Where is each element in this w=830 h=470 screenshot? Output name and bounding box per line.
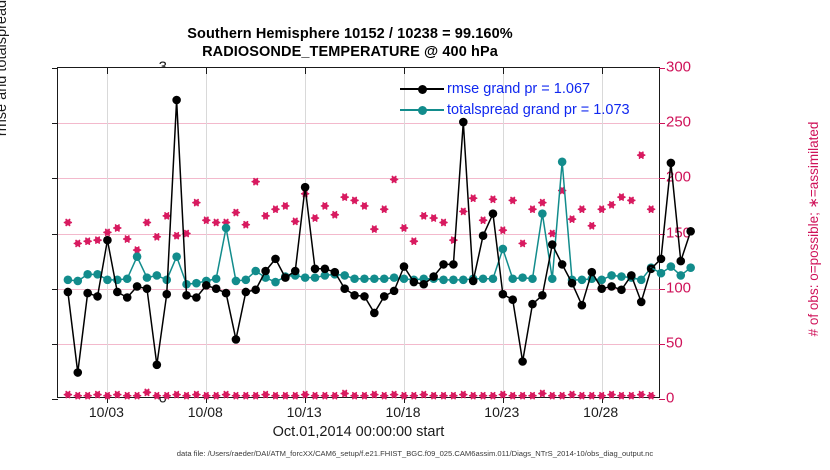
obs-possible-marker bbox=[588, 223, 595, 229]
obs-assimilated-marker bbox=[84, 393, 91, 399]
obs-assimilated-marker bbox=[322, 393, 329, 399]
obs-possible-marker bbox=[242, 222, 249, 228]
obs-assimilated-marker bbox=[499, 392, 506, 398]
series-marker bbox=[330, 268, 339, 277]
series-marker bbox=[429, 272, 438, 281]
obs-assimilated-marker bbox=[272, 393, 279, 399]
obs-possible-marker bbox=[499, 227, 506, 233]
series-marker bbox=[133, 282, 142, 291]
series-marker bbox=[657, 255, 666, 264]
series-marker bbox=[518, 357, 527, 366]
series-marker bbox=[311, 273, 320, 282]
obs-possible-marker bbox=[490, 196, 497, 202]
series-marker bbox=[676, 257, 685, 266]
obs-possible-marker bbox=[124, 236, 131, 242]
obs-possible-marker bbox=[480, 217, 487, 223]
obs-assimilated-marker bbox=[302, 392, 309, 398]
series-marker bbox=[597, 284, 606, 293]
obs-possible-marker bbox=[440, 220, 447, 226]
series-marker bbox=[499, 290, 508, 299]
series-marker bbox=[64, 276, 73, 285]
y-tick-label-right: 50 bbox=[666, 334, 683, 351]
obs-assimilated-marker bbox=[173, 392, 180, 398]
series-marker bbox=[469, 277, 478, 286]
obs-assimilated-marker bbox=[74, 393, 81, 399]
series-marker bbox=[113, 288, 122, 297]
obs-possible-marker bbox=[153, 234, 160, 240]
obs-possible-marker bbox=[519, 240, 526, 246]
series-marker bbox=[489, 274, 498, 283]
obs-possible-marker bbox=[203, 217, 210, 223]
series-marker bbox=[301, 183, 310, 192]
obs-possible-marker bbox=[173, 233, 180, 239]
legend-label-totalspread: totalspread grand pr = 1.073 bbox=[447, 102, 630, 118]
obs-possible-marker bbox=[74, 240, 81, 246]
obs-assimilated-marker bbox=[64, 392, 71, 398]
series-marker bbox=[172, 252, 181, 261]
series-marker bbox=[489, 209, 498, 218]
legend-swatch-rmse bbox=[400, 88, 444, 90]
series-marker bbox=[380, 292, 389, 301]
x-tick-label: 10/18 bbox=[385, 404, 420, 420]
legend-marker-dot bbox=[418, 106, 427, 115]
obs-assimilated-marker bbox=[588, 393, 595, 399]
series-marker bbox=[449, 276, 458, 285]
obs-assimilated-marker bbox=[579, 393, 586, 399]
obs-assimilated-marker bbox=[648, 393, 655, 399]
series-marker bbox=[588, 268, 597, 277]
series-marker bbox=[548, 274, 557, 283]
obs-assimilated-marker bbox=[490, 393, 497, 399]
tick-mark-left bbox=[52, 399, 58, 400]
obs-possible-marker bbox=[470, 195, 477, 201]
obs-assimilated-marker bbox=[480, 393, 487, 399]
series-marker bbox=[686, 263, 695, 272]
series-marker bbox=[321, 265, 330, 274]
obs-assimilated-marker bbox=[539, 391, 546, 397]
series-marker bbox=[558, 260, 567, 269]
series-marker bbox=[251, 267, 260, 276]
x-axis-label: Oct.01,2014 00:00:00 start bbox=[57, 424, 660, 440]
series-marker bbox=[657, 269, 666, 278]
legend-item-totalspread: totalspread grand pr = 1.073 bbox=[400, 99, 630, 120]
obs-assimilated-marker bbox=[470, 393, 477, 399]
obs-assimilated-marker bbox=[361, 393, 368, 399]
obs-assimilated-marker bbox=[233, 393, 240, 399]
series-marker bbox=[271, 255, 280, 264]
obs-possible-marker bbox=[410, 238, 417, 244]
y-tick-label-right: 250 bbox=[666, 114, 691, 131]
obs-possible-marker bbox=[569, 216, 576, 222]
obs-assimilated-marker bbox=[213, 393, 220, 399]
series-marker bbox=[528, 300, 537, 309]
obs-assimilated-marker bbox=[371, 392, 378, 398]
series-marker bbox=[479, 274, 488, 283]
obs-assimilated-marker bbox=[450, 393, 457, 399]
obs-possible-marker bbox=[262, 213, 269, 219]
obs-assimilated-marker bbox=[430, 393, 437, 399]
series-marker bbox=[558, 157, 567, 166]
obs-possible-marker bbox=[282, 203, 289, 209]
obs-possible-marker bbox=[312, 215, 319, 221]
obs-assimilated-marker bbox=[282, 393, 289, 399]
series-marker bbox=[232, 277, 241, 286]
obs-assimilated-marker bbox=[114, 392, 121, 398]
obs-possible-marker bbox=[549, 231, 556, 237]
obs-possible-marker bbox=[529, 206, 536, 212]
series-marker bbox=[419, 280, 428, 289]
obs-assimilated-marker bbox=[391, 392, 398, 398]
obs-assimilated-marker bbox=[104, 393, 111, 399]
series-marker bbox=[617, 272, 626, 281]
series-marker bbox=[400, 262, 409, 271]
obs-possible-marker bbox=[94, 237, 101, 243]
series-marker bbox=[607, 282, 616, 291]
chart-title-line2: RADIOSONDE_TEMPERATURE @ 400 hPa bbox=[0, 44, 700, 60]
series-marker bbox=[103, 276, 112, 285]
obs-possible-marker bbox=[322, 203, 329, 209]
obs-assimilated-marker bbox=[569, 392, 576, 398]
series-marker bbox=[242, 288, 251, 297]
obs-possible-marker bbox=[371, 226, 378, 232]
series-marker bbox=[508, 295, 517, 304]
series-marker bbox=[192, 279, 201, 288]
series-marker bbox=[607, 271, 616, 280]
series-marker bbox=[380, 274, 389, 283]
y-axis-label-right: # of obs: o=possible; ∗=assimilated bbox=[806, 59, 822, 399]
series-marker bbox=[410, 278, 419, 287]
series-marker bbox=[143, 284, 152, 293]
series-marker bbox=[578, 301, 587, 310]
obs-assimilated-marker bbox=[559, 393, 566, 399]
series-marker bbox=[370, 274, 379, 283]
series-marker bbox=[212, 274, 221, 283]
series-marker bbox=[676, 271, 685, 280]
obs-assimilated-marker bbox=[134, 393, 141, 399]
obs-possible-marker bbox=[114, 225, 121, 231]
obs-assimilated-marker bbox=[193, 392, 200, 398]
series-marker bbox=[390, 273, 399, 282]
series-marker bbox=[133, 252, 142, 261]
obs-possible-marker bbox=[144, 220, 151, 226]
series-marker bbox=[212, 284, 221, 293]
series-marker bbox=[192, 293, 201, 302]
obs-possible-marker bbox=[420, 213, 427, 219]
series-marker bbox=[123, 293, 132, 302]
obs-possible-marker bbox=[579, 206, 586, 212]
series-marker bbox=[617, 285, 626, 294]
series-marker bbox=[508, 274, 517, 283]
series-marker bbox=[449, 260, 458, 269]
series-marker bbox=[281, 273, 290, 282]
series-marker bbox=[271, 278, 280, 287]
series-marker bbox=[222, 289, 231, 298]
obs-assimilated-marker bbox=[440, 393, 447, 399]
obs-assimilated-marker bbox=[183, 393, 190, 399]
obs-possible-marker bbox=[84, 238, 91, 244]
obs-assimilated-marker bbox=[608, 392, 615, 398]
obs-assimilated-marker bbox=[94, 392, 101, 398]
series-marker bbox=[370, 309, 379, 318]
series-marker bbox=[637, 298, 646, 307]
obs-possible-marker bbox=[401, 225, 408, 231]
obs-assimilated-marker bbox=[401, 393, 408, 399]
obs-possible-marker bbox=[460, 208, 467, 214]
series-marker bbox=[153, 361, 162, 370]
series-marker bbox=[360, 292, 369, 301]
obs-assimilated-marker bbox=[292, 393, 299, 399]
obs-possible-marker bbox=[233, 210, 240, 216]
series-marker bbox=[251, 285, 260, 294]
obs-assimilated-marker bbox=[618, 393, 625, 399]
legend-marker-dot bbox=[418, 85, 427, 94]
series-marker bbox=[439, 260, 448, 269]
series-marker bbox=[340, 284, 349, 293]
series-marker bbox=[459, 276, 468, 285]
obs-assimilated-marker bbox=[124, 393, 131, 399]
series-marker bbox=[390, 287, 399, 296]
obs-possible-marker bbox=[638, 152, 645, 158]
series-marker bbox=[340, 271, 349, 280]
series-marker bbox=[528, 274, 537, 283]
obs-assimilated-marker bbox=[638, 392, 645, 398]
series-marker bbox=[301, 273, 310, 282]
data-file-footer: data file: /Users/raeder/DAI/ATM_forcXX/… bbox=[0, 449, 830, 458]
obs-possible-marker bbox=[104, 229, 111, 235]
obs-assimilated-marker bbox=[262, 392, 269, 398]
obs-assimilated-marker bbox=[223, 392, 230, 398]
obs-assimilated-marker bbox=[410, 393, 417, 399]
obs-possible-marker bbox=[272, 206, 279, 212]
series-marker bbox=[350, 274, 359, 283]
series-marker bbox=[538, 291, 547, 300]
obs-assimilated-marker bbox=[341, 391, 348, 397]
obs-possible-marker bbox=[509, 197, 516, 203]
series-marker bbox=[153, 271, 162, 280]
obs-assimilated-marker bbox=[519, 393, 526, 399]
obs-assimilated-marker bbox=[381, 393, 388, 399]
legend-item-rmse: rmse grand pr = 1.067 bbox=[400, 78, 630, 99]
obs-assimilated-marker bbox=[628, 393, 635, 399]
x-tick-label: 10/23 bbox=[484, 404, 519, 420]
obs-assimilated-marker bbox=[351, 393, 358, 399]
obs-possible-marker bbox=[252, 179, 259, 185]
series-marker bbox=[291, 267, 300, 276]
series-marker bbox=[360, 274, 369, 283]
series-marker bbox=[568, 279, 577, 288]
obs-assimilated-marker bbox=[242, 393, 249, 399]
series-marker bbox=[686, 227, 695, 236]
tick-mark-right bbox=[659, 399, 665, 400]
obs-possible-marker bbox=[430, 215, 437, 221]
series-marker bbox=[232, 335, 241, 344]
series-marker bbox=[182, 291, 191, 300]
obs-assimilated-marker bbox=[598, 393, 605, 399]
obs-possible-marker bbox=[134, 247, 141, 253]
obs-assimilated-marker bbox=[163, 393, 170, 399]
series-marker bbox=[311, 265, 320, 274]
y-tick-label-right: 100 bbox=[666, 279, 691, 296]
series-marker bbox=[667, 159, 676, 168]
obs-assimilated-marker bbox=[153, 393, 160, 399]
obs-possible-marker bbox=[391, 176, 398, 182]
series-marker bbox=[143, 273, 152, 282]
series-marker bbox=[242, 276, 251, 285]
obs-possible-marker bbox=[351, 197, 358, 203]
obs-possible-marker bbox=[618, 194, 625, 200]
x-tick-label: 10/13 bbox=[287, 404, 322, 420]
series-marker bbox=[499, 245, 508, 254]
obs-possible-marker bbox=[213, 220, 220, 226]
series-marker bbox=[548, 240, 557, 249]
series-marker bbox=[93, 292, 102, 301]
y-axis-label-left: rmse and totalspread bbox=[0, 0, 10, 233]
x-tick-label: 10/03 bbox=[89, 404, 124, 420]
series-marker bbox=[627, 271, 636, 280]
y-tick-label-right: 0 bbox=[666, 390, 674, 407]
series-marker bbox=[637, 276, 646, 285]
obs-possible-marker bbox=[381, 206, 388, 212]
series-marker bbox=[103, 236, 112, 245]
series-marker bbox=[172, 96, 181, 105]
obs-possible-marker bbox=[331, 212, 338, 218]
x-tick-label: 10/28 bbox=[583, 404, 618, 420]
series-marker bbox=[439, 276, 448, 285]
obs-assimilated-marker bbox=[203, 393, 210, 399]
series-marker bbox=[222, 224, 231, 233]
obs-assimilated-marker bbox=[509, 393, 516, 399]
obs-assimilated-marker bbox=[144, 389, 151, 395]
series-marker bbox=[162, 290, 171, 299]
series-marker bbox=[202, 281, 211, 290]
series-marker bbox=[350, 291, 359, 300]
legend-label-rmse: rmse grand pr = 1.067 bbox=[447, 81, 590, 97]
obs-possible-marker bbox=[64, 220, 71, 226]
obs-assimilated-marker bbox=[460, 392, 467, 398]
series-marker bbox=[667, 262, 676, 271]
x-tick-label: 10/08 bbox=[188, 404, 223, 420]
obs-possible-marker bbox=[341, 194, 348, 200]
series-marker bbox=[261, 267, 270, 276]
obs-assimilated-marker bbox=[549, 393, 556, 399]
obs-possible-marker bbox=[361, 203, 368, 209]
series-marker bbox=[83, 289, 92, 298]
chart-legend: rmse grand pr = 1.067 totalspread grand … bbox=[400, 78, 630, 120]
series-marker bbox=[479, 231, 488, 240]
obs-possible-marker bbox=[539, 200, 546, 206]
series-marker bbox=[578, 276, 587, 285]
chart-figure: Southern Hemisphere 10152 / 10238 = 99.1… bbox=[0, 0, 830, 470]
obs-possible-marker bbox=[163, 213, 170, 219]
chart-title-line1: Southern Hemisphere 10152 / 10238 = 99.1… bbox=[0, 26, 700, 42]
series-marker bbox=[538, 209, 547, 218]
obs-assimilated-marker bbox=[331, 393, 338, 399]
obs-assimilated-marker bbox=[529, 393, 536, 399]
obs-assimilated-marker bbox=[420, 392, 427, 398]
obs-possible-marker bbox=[598, 206, 605, 212]
y-tick-label-right: 300 bbox=[666, 59, 691, 76]
series-marker bbox=[73, 277, 82, 286]
obs-assimilated-marker bbox=[252, 393, 259, 399]
obs-possible-marker bbox=[292, 218, 299, 224]
obs-possible-marker bbox=[193, 200, 200, 206]
series-marker bbox=[64, 288, 73, 297]
obs-possible-marker bbox=[608, 202, 615, 208]
series-marker bbox=[518, 273, 527, 282]
obs-assimilated-marker bbox=[312, 393, 319, 399]
obs-possible-marker bbox=[648, 206, 655, 212]
obs-possible-marker bbox=[628, 197, 635, 203]
series-marker bbox=[83, 270, 92, 279]
legend-swatch-totalspread bbox=[400, 109, 444, 111]
series-marker bbox=[123, 274, 132, 283]
series-marker bbox=[73, 368, 82, 377]
